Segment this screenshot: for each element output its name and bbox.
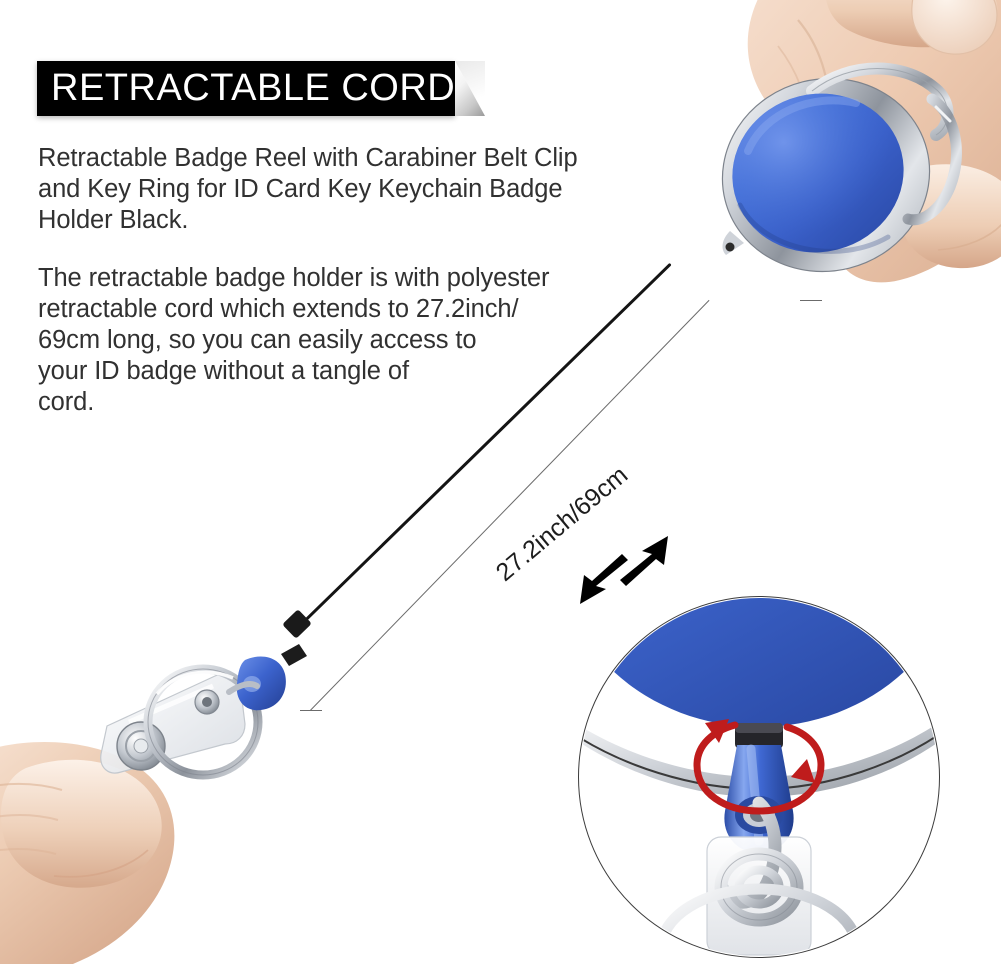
dimension-tick-end xyxy=(800,300,822,301)
badge-clip-and-key-ring xyxy=(95,640,315,830)
product-infographic: 27.2inch/69cm RETRACTABLE CORD Retractab… xyxy=(0,0,1001,964)
double-headed-arrow-icon xyxy=(568,518,688,608)
swivel-detail-inset xyxy=(578,596,940,958)
title-banner: RETRACTABLE CORD xyxy=(37,61,455,116)
badge-reel-carabiner xyxy=(700,55,970,290)
cord-end-stop xyxy=(282,609,312,639)
page-title: RETRACTABLE CORD xyxy=(37,67,455,110)
product-description-primary: Retractable Badge Reel with Carabiner Be… xyxy=(38,143,638,236)
product-description-secondary: The retractable badge holder is with pol… xyxy=(38,263,638,418)
